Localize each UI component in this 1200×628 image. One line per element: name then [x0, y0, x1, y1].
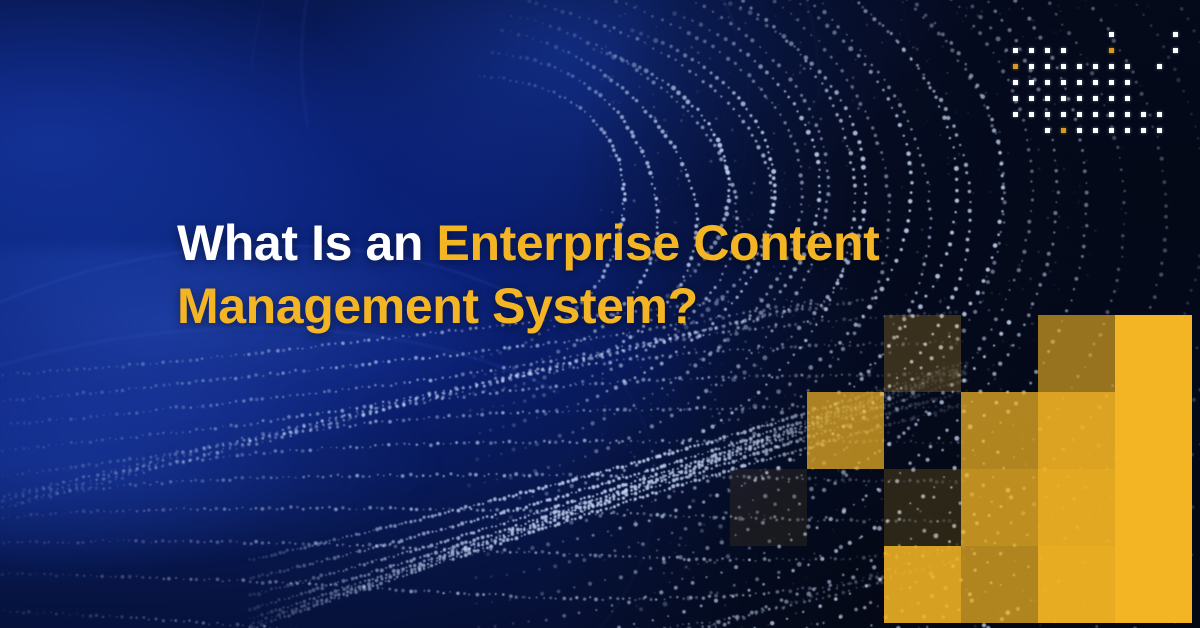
- grid-dot: [1093, 64, 1098, 69]
- mosaic-square: [961, 469, 1038, 546]
- grid-dot: [1045, 80, 1050, 85]
- grid-dot: [1013, 48, 1018, 53]
- grid-dot: [1061, 128, 1066, 133]
- grid-dot: [1077, 128, 1082, 133]
- mosaic-square: [884, 546, 961, 623]
- grid-dot: [1109, 48, 1114, 53]
- grid-dot: [1013, 112, 1018, 117]
- grid-dot: [1125, 80, 1130, 85]
- grid-dot: [1077, 112, 1082, 117]
- grid-dot: [1173, 32, 1178, 37]
- mosaic-square: [1115, 392, 1192, 469]
- mosaic-square: [961, 392, 1038, 469]
- grid-dot: [1029, 48, 1034, 53]
- grid-dot: [1045, 64, 1050, 69]
- mosaic-square: [807, 392, 884, 469]
- grid-dot: [1077, 96, 1082, 101]
- grid-dot: [1093, 128, 1098, 133]
- grid-dot: [1077, 64, 1082, 69]
- headline-accent-text-1: Enterprise Content: [437, 215, 880, 271]
- grid-dot: [1109, 64, 1114, 69]
- mosaic-square: [1038, 392, 1115, 469]
- headline-line-2: Management System?: [177, 275, 937, 338]
- grid-dot: [1077, 80, 1082, 85]
- grid-dot: [1109, 128, 1114, 133]
- grid-dot: [1157, 128, 1162, 133]
- grid-dot: [1109, 32, 1114, 37]
- grid-dot: [1061, 64, 1066, 69]
- grid-dot: [1125, 96, 1130, 101]
- mosaic-square: [1038, 469, 1115, 546]
- grid-dot: [1061, 112, 1066, 117]
- dot-grid-pattern: [1005, 30, 1180, 140]
- grid-dot: [1157, 64, 1162, 69]
- grid-dot: [1061, 80, 1066, 85]
- grid-dot: [1045, 48, 1050, 53]
- grid-dot: [1061, 96, 1066, 101]
- mosaic-square: [1038, 546, 1115, 623]
- gold-square-mosaic: [730, 310, 1200, 628]
- grid-dot: [1013, 96, 1018, 101]
- mosaic-square: [1115, 546, 1192, 623]
- grid-dot: [1109, 96, 1114, 101]
- grid-dot: [1045, 128, 1050, 133]
- grid-dot: [1109, 112, 1114, 117]
- grid-dot: [1029, 64, 1034, 69]
- page-title: What Is an Enterprise Content Management…: [177, 212, 937, 338]
- headline-plain-text: What Is an: [177, 215, 437, 271]
- grid-dot: [1125, 64, 1130, 69]
- grid-dot: [1141, 128, 1146, 133]
- mosaic-square: [884, 469, 961, 546]
- grid-dot: [1093, 112, 1098, 117]
- grid-dot: [1029, 96, 1034, 101]
- mosaic-square: [730, 469, 807, 546]
- grid-dot: [1093, 96, 1098, 101]
- headline-line-1: What Is an Enterprise Content: [177, 212, 937, 275]
- grid-dot: [1125, 128, 1130, 133]
- grid-dot: [1013, 64, 1018, 69]
- grid-dot: [1173, 48, 1178, 53]
- grid-dot: [1029, 80, 1034, 85]
- grid-dot: [1109, 80, 1114, 85]
- grid-dot: [1029, 112, 1034, 117]
- grid-dot: [1093, 80, 1098, 85]
- hero-banner: What Is an Enterprise Content Management…: [0, 0, 1200, 628]
- mosaic-square: [961, 546, 1038, 623]
- grid-dot: [1013, 80, 1018, 85]
- grid-dot: [1125, 112, 1130, 117]
- mosaic-square: [1115, 315, 1192, 392]
- grid-dot: [1141, 112, 1146, 117]
- grid-dot: [1045, 96, 1050, 101]
- grid-dot: [1061, 48, 1066, 53]
- mosaic-square: [1038, 315, 1115, 392]
- grid-dot: [1045, 112, 1050, 117]
- grid-dot: [1157, 112, 1162, 117]
- mosaic-square: [1115, 469, 1192, 546]
